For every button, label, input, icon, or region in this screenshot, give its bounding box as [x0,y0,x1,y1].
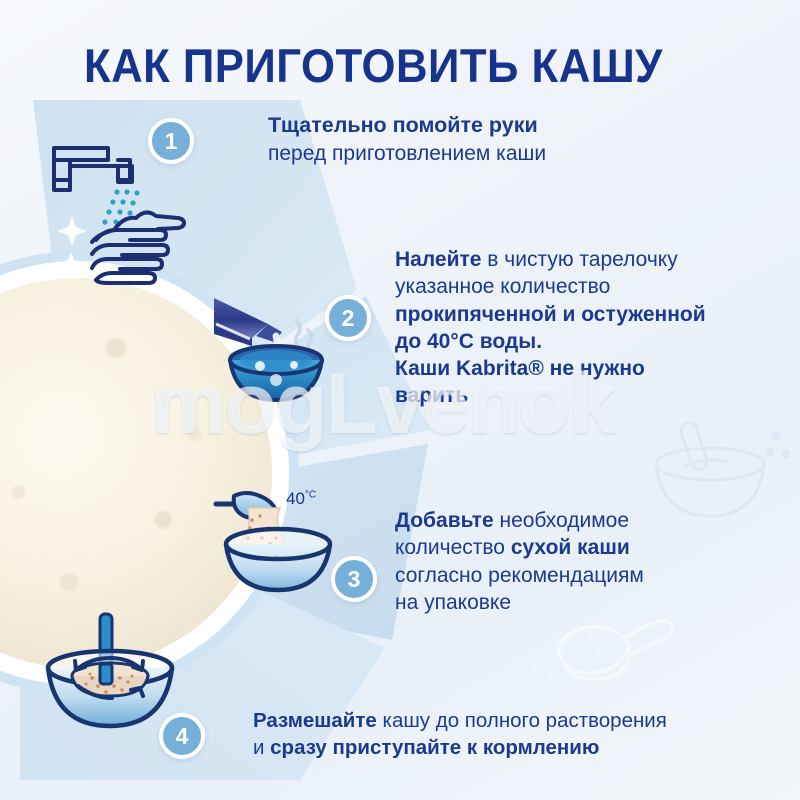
bowl-shape [230,346,322,400]
sparkle-icon [57,216,87,274]
kettle-shape [214,298,282,346]
step-1-line-2: перед приготовлением каши [268,142,546,165]
infographic-canvas: КАК ПРИГОТОВИТЬ КАШУ [0,0,800,800]
step-2-line-3: прокипяченной и остуженной [395,303,706,326]
bowl-shape [226,529,330,590]
step-3-line-1-rest: необходимое [494,509,629,532]
step-number-1[interactable]: 1 [148,118,194,164]
step-4-line-2-bold: сразу приступайте к кормлению [270,736,599,759]
scoop-outline-icon [520,605,690,710]
step-2-line-1-rest: в чистую тарелочку [481,248,677,271]
step-2-line-1-bold: Налейте [395,248,481,271]
page-title: КАК ПРИГОТОВИТЬ КАШУ [84,38,663,93]
step-3-line-1-bold: Добавьте [395,509,494,532]
temperature-label: 40°C [286,489,316,509]
step-1-text: Тщательно помойте руки перед приготовлен… [268,112,546,167]
step-2-text: Налейте в чистую тарелочку указанное кол… [395,246,706,410]
step-3-line-2-pre: количество [395,536,511,559]
step-3-line-2-bold: сухой каши [511,536,630,559]
step-number-4[interactable]: 4 [159,713,205,759]
step-2-line-6: варить [395,384,468,407]
bowl-with-spoon-outline-icon [640,418,800,528]
step-2-line-2: указанное количество [395,275,610,298]
step-2-line-5: Каши Kabrita® не нужно [395,357,645,380]
step-number-2[interactable]: 2 [325,295,371,341]
step-3-line-4: на упаковке [395,591,511,614]
kettle-pouring-into-bowl-icon [212,292,340,414]
step-3-line-3: согласно рекомендациям [395,564,644,587]
step-1-line-1: Тщательно помойте руки [268,113,538,137]
step-4-line-2-pre: и [253,736,270,759]
step-4-text: Размешайте кашу до полного растворения и… [253,708,667,761]
step-2-line-4: до 40°C воды. [395,330,542,353]
step-number-3[interactable]: 3 [331,556,377,602]
step-4-line-1-bold: Размешайте [253,709,377,732]
step-4-line-1-rest: кашу до полного растворения [377,709,667,732]
step-3-text: Добавьте необходимое количество сухой ка… [395,507,644,616]
